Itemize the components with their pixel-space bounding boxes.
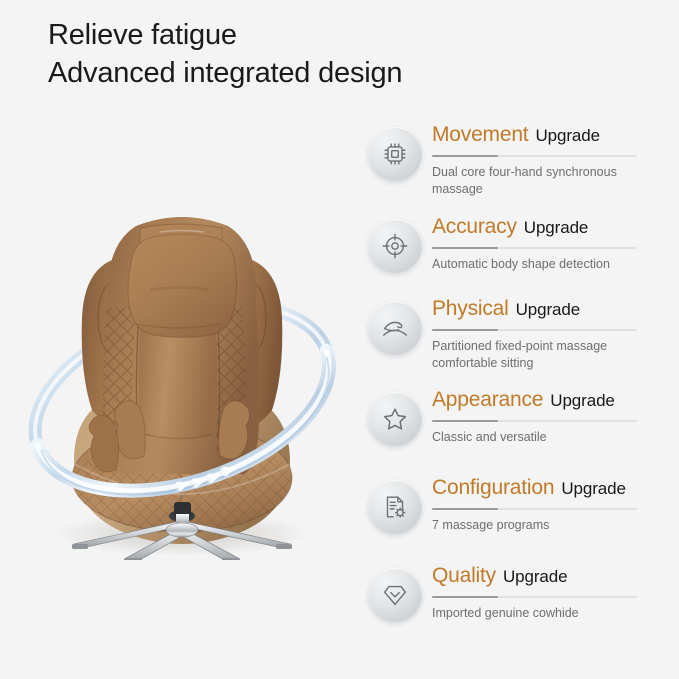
feature-item-physical[interactable]: Physical Upgrade Partitioned fixed-point… — [366, 298, 666, 373]
feature-description: Partitioned fixed-point massage comforta… — [432, 338, 646, 373]
document-gear-icon — [368, 480, 422, 534]
feature-title: Physical Upgrade — [432, 298, 666, 320]
feature-divider — [432, 247, 637, 249]
feature-title-accent: Appearance — [432, 389, 543, 411]
feature-divider — [432, 596, 637, 598]
feature-item-appearance[interactable]: Appearance Upgrade Classic and versatile — [366, 389, 666, 451]
feature-title: Quality Upgrade — [432, 565, 666, 587]
feature-divider — [432, 329, 637, 331]
feature-description: Dual core four-hand synchronous massage — [432, 164, 646, 199]
feature-list: Movement Upgrade Dual core four-hand syn… — [366, 124, 666, 627]
feature-title-accent: Movement — [432, 124, 528, 146]
feature-title: Movement Upgrade — [432, 124, 666, 146]
feature-item-configuration[interactable]: Configuration Upgrade 7 massage programs — [366, 477, 666, 539]
feature-divider — [432, 155, 637, 157]
feature-description: Classic and versatile — [432, 429, 646, 446]
feature-title-accent: Quality — [432, 565, 496, 587]
feature-title-accent: Physical — [432, 298, 509, 320]
feature-title-rest: Upgrade — [561, 480, 626, 498]
feature-title: Configuration Upgrade — [432, 477, 666, 499]
feature-title-rest: Upgrade — [535, 127, 600, 145]
feature-title: Accuracy Upgrade — [432, 216, 666, 238]
feature-item-quality[interactable]: Quality Upgrade Imported genuine cowhide — [366, 565, 666, 627]
hand-massage-icon — [368, 301, 422, 355]
star-icon — [368, 392, 422, 446]
feature-item-movement[interactable]: Movement Upgrade Dual core four-hand syn… — [366, 124, 666, 199]
feature-title-rest: Upgrade — [524, 219, 589, 237]
product-feature-page: Relieve fatigue Advanced integrated desi… — [0, 0, 679, 679]
feature-title-rest: Upgrade — [503, 568, 568, 586]
feature-title-accent: Configuration — [432, 477, 554, 499]
page-title: Relieve fatigue Advanced integrated desi… — [48, 16, 402, 93]
feature-divider — [432, 508, 637, 510]
feature-title-rest: Upgrade — [550, 392, 615, 410]
feature-description: 7 massage programs — [432, 517, 646, 534]
page-title-line-1: Relieve fatigue — [48, 16, 402, 54]
target-crosshair-icon — [368, 219, 422, 273]
feature-item-accuracy[interactable]: Accuracy Upgrade Automatic body shape de… — [366, 216, 666, 278]
diamond-gem-icon — [368, 568, 422, 622]
feature-description: Automatic body shape detection — [432, 256, 646, 273]
massage-chair-illustration — [10, 130, 360, 560]
feature-title: Appearance Upgrade — [432, 389, 666, 411]
feature-description: Imported genuine cowhide — [432, 605, 646, 622]
feature-title-accent: Accuracy — [432, 216, 517, 238]
page-title-line-2: Advanced integrated design — [48, 54, 402, 92]
cpu-chip-icon — [368, 127, 422, 181]
feature-divider — [432, 420, 637, 422]
feature-title-rest: Upgrade — [516, 301, 581, 319]
